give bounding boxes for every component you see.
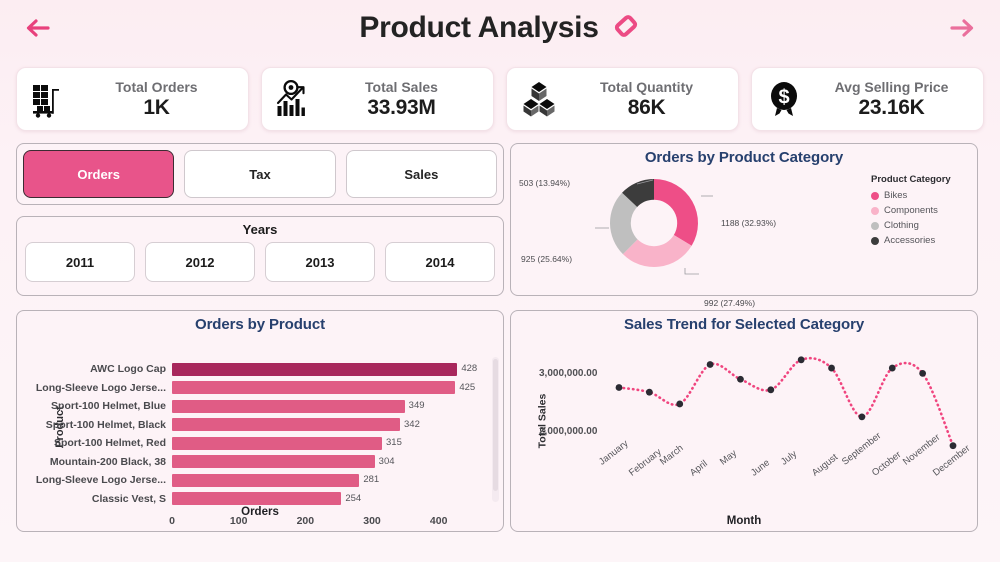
slicer-option-tax[interactable]: Tax — [184, 150, 335, 198]
kpi-card-total-quantity[interactable]: Total Quantity 86K — [506, 67, 739, 131]
slicer-option-sales[interactable]: Sales — [346, 150, 497, 198]
growth-chart-icon — [272, 76, 316, 122]
bar-category-label: Classic Vest, S — [17, 493, 172, 505]
bar-row[interactable]: Long-Sleeve Logo Jerse...425 — [17, 380, 503, 396]
slicer-option-label: Orders — [77, 167, 120, 182]
bar-row[interactable]: Mountain-200 Black, 38304 — [17, 454, 503, 470]
bar-category-label: Sport-100 Helmet, Black — [17, 419, 172, 431]
line-data-point[interactable] — [919, 370, 926, 377]
orders-by-category-panel: Orders by Product Category — [510, 143, 978, 296]
bar-fill[interactable] — [172, 418, 400, 431]
donut-chart[interactable]: 503 (13.94%) 1188 (32.93%) 925 (25.64%) … — [511, 166, 977, 284]
kpi-texts: Total Sales 33.93M — [322, 79, 481, 120]
scrollbar-thumb[interactable] — [493, 359, 498, 491]
bar-fill[interactable] — [172, 492, 341, 505]
line-data-point[interactable] — [767, 386, 774, 393]
bar-category-label: Sport-100 Helmet, Blue — [17, 400, 172, 412]
line-chart[interactable]: Total Sales 3,000,000.00 2,000,000.00 Ja… — [511, 333, 977, 529]
kpi-label: Total Orders — [115, 79, 197, 95]
page-header: Product Analysis — [0, 0, 1000, 56]
kpi-value: 1K — [143, 96, 169, 120]
year-option-label: 2012 — [186, 255, 215, 270]
bar-track: 254 — [172, 491, 503, 507]
arrow-left-icon[interactable] — [20, 10, 56, 46]
kpi-value: 86K — [628, 96, 666, 120]
bar-row[interactable]: Classic Vest, S254 — [17, 491, 503, 507]
legend-swatch-icon — [871, 237, 879, 245]
bar-fill[interactable] — [172, 474, 359, 487]
dashboard-page: Product Analysis — [0, 0, 1000, 562]
legend-title: Product Category — [871, 174, 951, 185]
kpi-texts: Total Orders 1K — [77, 79, 236, 120]
bar-rows: AWC Logo Cap428Long-Sleeve Logo Jerse...… — [17, 361, 503, 509]
bar-category-label: Long-Sleeve Logo Jerse... — [17, 382, 172, 394]
bar-fill[interactable] — [172, 363, 457, 376]
bar-category-label: Sport-100 Helmet, Red — [17, 437, 172, 449]
bar-row[interactable]: Sport-100 Helmet, Blue349 — [17, 398, 503, 414]
bar-fill[interactable] — [172, 455, 375, 468]
bar-value-label: 342 — [404, 419, 420, 430]
kpi-value: 33.93M — [367, 96, 435, 120]
bar-value-label: 349 — [409, 400, 425, 411]
chart-title: Orders by Product Category — [511, 144, 977, 166]
years-slicer-panel: Years 2011 2012 2013 2014 — [16, 216, 504, 296]
donut-label-accessories: 503 (13.94%) — [519, 178, 570, 188]
line-data-point[interactable] — [707, 361, 714, 368]
line-series-path — [619, 358, 953, 446]
svg-text:$: $ — [778, 87, 789, 109]
line-data-point[interactable] — [950, 442, 957, 449]
orders-by-product-panel: Orders by Product Product AWC Logo Cap42… — [16, 310, 504, 532]
legend-item-clothing[interactable]: Clothing — [871, 220, 951, 231]
legend-item-components[interactable]: Components — [871, 205, 951, 216]
year-option-label: 2013 — [306, 255, 335, 270]
line-data-point[interactable] — [859, 413, 866, 420]
bar-value-label: 428 — [461, 363, 477, 374]
bar-track: 428 — [172, 361, 503, 377]
years-slicer-title: Years — [25, 222, 495, 237]
line-data-point[interactable] — [737, 376, 744, 383]
dollar-coin-icon: $ — [762, 76, 806, 122]
bar-track: 425 — [172, 380, 503, 396]
bar-category-label: Mountain-200 Black, 38 — [17, 456, 172, 468]
slicer-option-orders[interactable]: Orders — [23, 150, 174, 198]
bar-category-label: Long-Sleeve Logo Jerse... — [17, 474, 172, 486]
legend-label: Bikes — [884, 190, 907, 201]
kpi-texts: Avg Selling Price 23.16K — [812, 79, 971, 120]
bar-fill[interactable] — [172, 400, 405, 413]
chart-title: Sales Trend for Selected Category — [511, 311, 977, 333]
year-option-label: 2014 — [426, 255, 455, 270]
title-wrap: Product Analysis — [359, 11, 640, 46]
year-option-label: 2011 — [66, 255, 94, 270]
x-axis-title: Month — [511, 515, 977, 527]
boxes-icon — [517, 76, 561, 122]
bar-fill[interactable] — [172, 437, 382, 450]
kpi-value: 23.16K — [859, 96, 925, 120]
line-data-point[interactable] — [676, 401, 683, 408]
warehouse-cart-icon — [27, 76, 71, 122]
measure-slicer: Orders Tax Sales — [23, 150, 497, 198]
line-data-point[interactable] — [798, 356, 805, 363]
bar-chart[interactable]: Product AWC Logo Cap428Long-Sleeve Logo … — [17, 333, 503, 529]
bar-value-label: 281 — [363, 474, 379, 485]
bar-row[interactable]: Sport-100 Helmet, Black342 — [17, 417, 503, 433]
sales-trend-panel: Sales Trend for Selected Category Total … — [510, 310, 978, 532]
measure-slicer-panel: Orders Tax Sales — [16, 143, 504, 205]
year-option-2013[interactable]: 2013 — [265, 242, 375, 282]
bar-value-label: 425 — [459, 382, 475, 393]
kpi-label: Avg Selling Price — [835, 79, 949, 95]
year-option-2011[interactable]: 2011 — [25, 242, 135, 282]
line-data-point[interactable] — [889, 365, 896, 372]
year-option-2012[interactable]: 2012 — [145, 242, 255, 282]
bar-track: 349 — [172, 398, 503, 414]
line-data-point[interactable] — [646, 389, 653, 396]
bar-track: 342 — [172, 417, 503, 433]
bar-track: 304 — [172, 454, 503, 470]
bar-fill[interactable] — [172, 381, 455, 394]
bar-track: 281 — [172, 472, 503, 488]
bar-category-label: AWC Logo Cap — [17, 363, 172, 375]
kpi-card-total-orders[interactable]: Total Orders 1K — [16, 67, 249, 131]
legend-label: Clothing — [884, 220, 919, 231]
kpi-card-avg-selling-price[interactable]: $ Avg Selling Price 23.16K — [751, 67, 984, 131]
bar-value-label: 315 — [386, 437, 402, 448]
page-title: Product Analysis — [359, 11, 598, 45]
year-option-2014[interactable]: 2014 — [385, 242, 495, 282]
bar-row[interactable]: Sport-100 Helmet, Red315 — [17, 435, 503, 451]
slicer-option-label: Sales — [404, 167, 438, 182]
legend-swatch-icon — [871, 222, 879, 230]
bar-chart-scrollbar[interactable] — [492, 357, 499, 502]
bar-row[interactable]: Long-Sleeve Logo Jerse...281 — [17, 472, 503, 488]
kpi-label: Total Quantity — [600, 79, 693, 95]
bar-row[interactable]: AWC Logo Cap428 — [17, 361, 503, 377]
bar-value-label: 254 — [345, 493, 361, 504]
line-data-point[interactable] — [828, 365, 835, 372]
diamond-icon — [611, 11, 641, 46]
line-data-point[interactable] — [616, 384, 623, 391]
kpi-label: Total Sales — [365, 79, 438, 95]
legend-label: Accessories — [884, 235, 935, 246]
years-slicer: 2011 2012 2013 2014 — [25, 242, 495, 282]
legend-item-bikes[interactable]: Bikes — [871, 190, 951, 201]
legend-swatch-icon — [871, 207, 879, 215]
kpi-card-total-sales[interactable]: Total Sales 33.93M — [261, 67, 494, 131]
donut-label-clothing: 925 (25.64%) — [521, 254, 572, 264]
donut-label-bikes: 1188 (32.93%) — [721, 218, 776, 228]
legend-label: Components — [884, 205, 938, 216]
donut-legend: Product Category Bikes Components Clothi… — [871, 174, 951, 246]
legend-swatch-icon — [871, 192, 879, 200]
slicer-option-label: Tax — [249, 167, 270, 182]
arrow-right-icon[interactable] — [944, 10, 980, 46]
kpi-row: Total Orders 1K — [16, 67, 984, 131]
legend-item-accessories[interactable]: Accessories — [871, 235, 951, 246]
kpi-texts: Total Quantity 86K — [567, 79, 726, 120]
donut-label-components: 992 (27.49%) — [704, 298, 755, 308]
chart-title: Orders by Product — [17, 311, 503, 333]
bar-track: 315 — [172, 435, 503, 451]
bar-value-label: 304 — [379, 456, 395, 467]
x-axis-title: Orders — [17, 506, 503, 518]
